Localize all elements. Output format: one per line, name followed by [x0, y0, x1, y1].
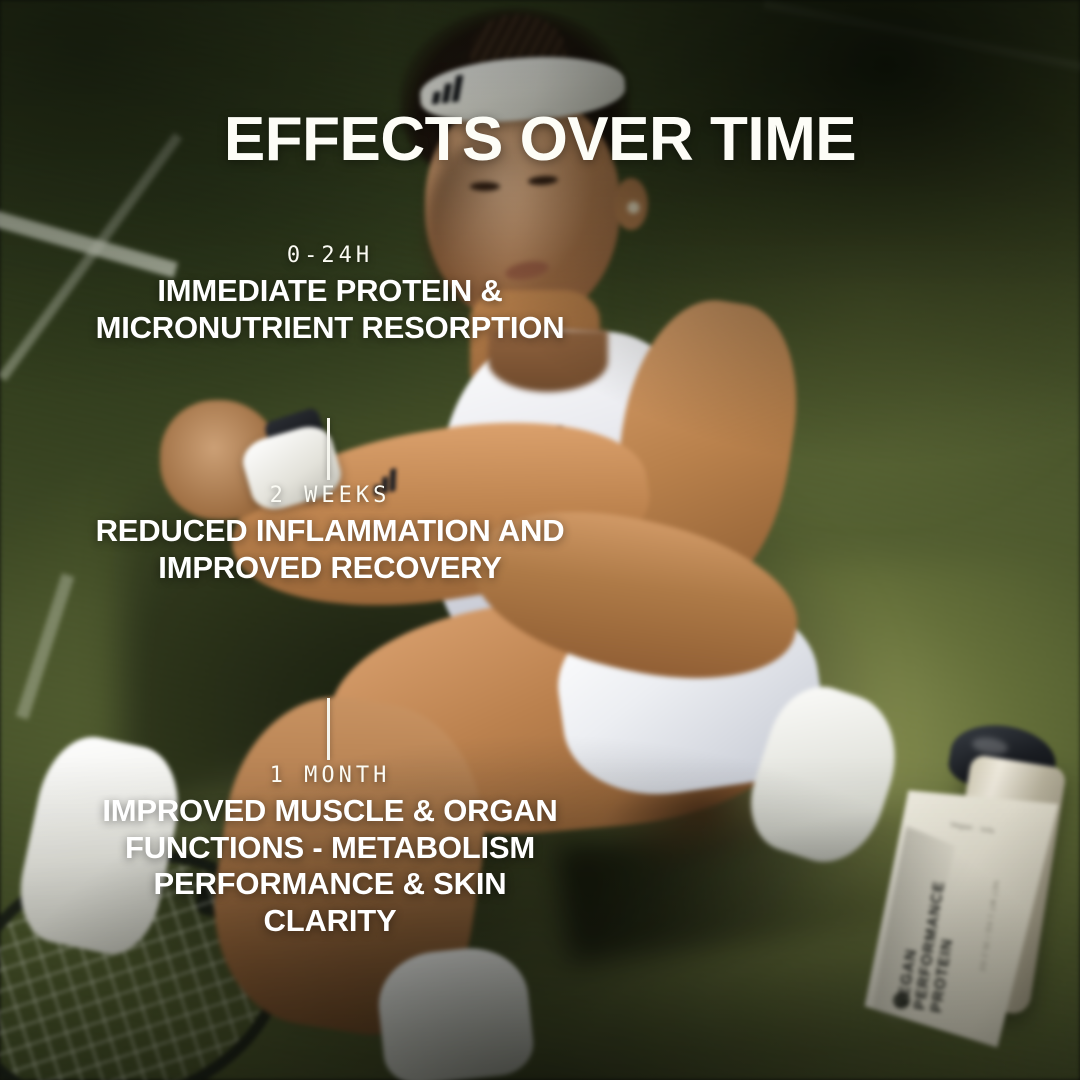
timeline-divider: [327, 698, 330, 760]
timeline-stage-description: IMPROVED MUSCLE & ORGAN FUNCTIONS - META…: [0, 793, 660, 939]
timeline-stage-1: 2 WEEKS REDUCED INFLAMMATION AND IMPROVE…: [0, 483, 660, 586]
timeline-stage-2: 1 MONTH IMPROVED MUSCLE & ORGAN FUNCTION…: [0, 763, 660, 939]
timeline-stage-label: 2 WEEKS: [0, 483, 660, 508]
timeline-stage-description: IMMEDIATE PROTEIN & MICRONUTRIENT RESORP…: [0, 273, 660, 346]
promo-graphic: Vegan · Info NET WT 1 KG / 35.2 OZ VEGAN…: [0, 0, 1080, 1080]
text-overlay: EFFECTS OVER TIME 0-24H IMMEDIATE PROTEI…: [0, 0, 1080, 1080]
timeline-divider: [327, 418, 330, 480]
page-title: EFFECTS OVER TIME: [0, 104, 1080, 175]
timeline-stage-label: 1 MONTH: [0, 763, 660, 788]
timeline-stage-0: 0-24H IMMEDIATE PROTEIN & MICRONUTRIENT …: [0, 243, 660, 346]
timeline-stage-label: 0-24H: [0, 243, 660, 268]
timeline-stage-description: REDUCED INFLAMMATION AND IMPROVED RECOVE…: [0, 513, 660, 586]
